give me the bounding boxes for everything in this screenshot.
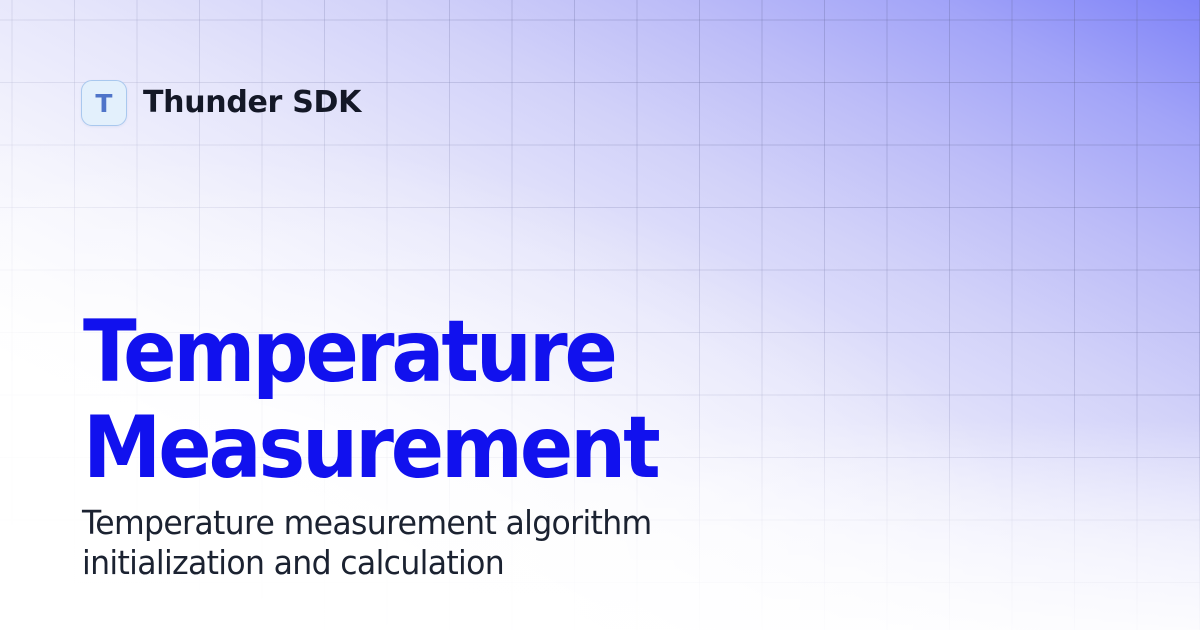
page-title: Temperature Measurement xyxy=(83,304,705,496)
og-card: T Thunder SDK Temperature Measurement Te… xyxy=(0,0,1200,630)
thunder-logo-badge-icon: T xyxy=(81,80,127,126)
page-title-line-2: Measurement xyxy=(83,400,705,496)
page-subtitle-line-1: Temperature measurement algorithm xyxy=(82,503,751,543)
page-subtitle-line-2: initialization and calculation xyxy=(82,543,751,583)
brand-badge-letter: T xyxy=(95,91,112,116)
brand-lockup: T Thunder SDK xyxy=(81,80,361,126)
page-title-line-1: Temperature xyxy=(83,304,705,400)
card-content: T Thunder SDK Temperature Measurement Te… xyxy=(0,0,1200,630)
page-subtitle: Temperature measurement algorithm initia… xyxy=(82,503,751,583)
brand-name: Thunder SDK xyxy=(143,88,361,118)
